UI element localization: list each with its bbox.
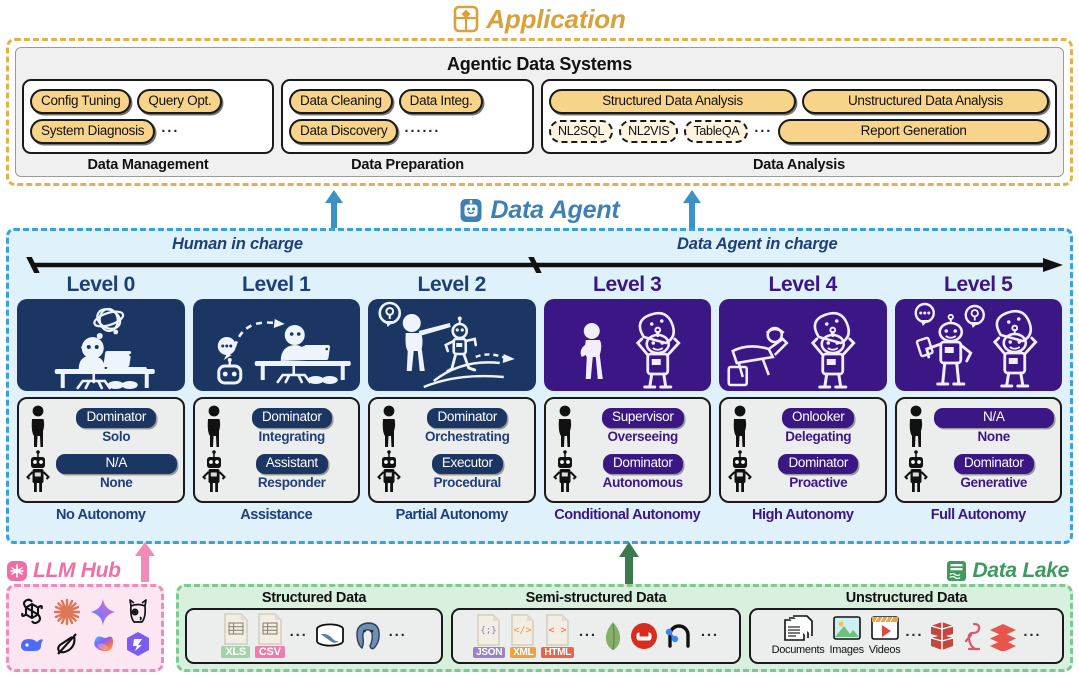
capability-chip[interactable]: System Diagnosis <box>30 119 155 144</box>
data-agent-title-text: Data Agent <box>490 196 619 225</box>
data-lake-icon <box>946 560 967 582</box>
openai-logo <box>17 597 47 627</box>
levels-row: Level 0 <box>17 274 1062 523</box>
autonomy-label: Assistance <box>193 507 361 523</box>
file-caption: XLS <box>221 646 250 658</box>
lake-group-structured: Structured Data XLS CSV ··· <box>185 589 443 664</box>
qwen-logo <box>123 629 153 659</box>
human-role-sub: Delegating <box>785 429 851 445</box>
file-caption: XML <box>510 647 536 658</box>
level-card-5[interactable]: Level 5 <box>895 274 1063 523</box>
agent-role-pill: Assistant <box>256 454 328 474</box>
capability-chip[interactable]: Unstructured Data Analysis <box>802 89 1049 114</box>
level-roles-1: Dominator Integrating Assistant Responde… <box>193 397 361 503</box>
arrow-llm-hub-to-agent <box>134 542 152 582</box>
level-name: Level 1 <box>193 274 361 296</box>
human-role-sub: Orchestrating <box>425 429 510 445</box>
level-card-2[interactable]: Level 2 <box>368 274 536 523</box>
application-grid-icon <box>453 5 479 33</box>
charge-labels: Human in charge Data Agent in charge <box>17 235 1062 257</box>
videos-icon: Videos <box>869 615 901 656</box>
capability-chip[interactable]: Structured Data Analysis <box>549 89 796 114</box>
data-agent-title: Data Agent <box>0 194 1079 226</box>
svg-text:< >: < > <box>548 625 566 636</box>
data-agent-in-charge-label: Data Agent in charge <box>677 235 837 254</box>
autonomy-axis <box>17 257 1062 273</box>
agent-role-pill: Executor <box>432 454 503 474</box>
ellipsis: ··· <box>579 628 597 643</box>
human-figure-icon <box>552 405 578 449</box>
robot-figure-icon <box>727 450 753 494</box>
human-role-pill: Dominator <box>427 408 507 428</box>
application-title-text: Application <box>486 4 625 35</box>
capability-chip[interactable]: Data Discovery <box>289 119 398 144</box>
llm-logos-row-2 <box>14 629 156 659</box>
ellipsis: ··· <box>161 124 179 139</box>
capability-chip[interactable]: Query Opt. <box>137 89 222 114</box>
level-roles-0: Dominator Solo N/A None <box>17 397 185 503</box>
capability-chip[interactable]: Data Integ. <box>399 89 484 114</box>
human-role-pill: Supervisor <box>602 408 684 428</box>
level-roles-5: N/A None Dominator Generative <box>895 397 1063 503</box>
aws-s3-logo <box>928 621 956 651</box>
application-panel: Agentic Data Systems Config Tuning Query… <box>6 38 1073 186</box>
level-illustration-0 <box>17 299 185 391</box>
level-name: Level 0 <box>17 274 185 296</box>
documents-icon: Documents <box>772 615 825 656</box>
app-column-data-management: Config Tuning Query Opt. System Diagnosi… <box>22 79 274 173</box>
ellipsis: ··· <box>905 628 923 643</box>
ellipsis: ······ <box>404 124 440 139</box>
llama-logo <box>123 597 153 627</box>
capability-chip[interactable]: Config Tuning <box>30 89 131 114</box>
human-role-sub: None <box>977 429 1010 445</box>
capability-chip-tableqa[interactable]: TableQA <box>684 120 748 143</box>
capability-chip-nl2sql[interactable]: NL2SQL <box>549 120 613 143</box>
deepseek-logo <box>17 629 47 659</box>
level-illustration-2 <box>368 299 536 391</box>
robot-figure-icon <box>25 450 51 494</box>
human-role-pill: Onlooker <box>782 408 854 428</box>
data-agent-panel: Human in charge Data Agent in charge Lev… <box>6 228 1073 544</box>
file-caption: Videos <box>869 644 901 656</box>
human-role-pill: N/A <box>934 408 1055 428</box>
level-illustration-4 <box>719 299 887 391</box>
file-caption: Documents <box>772 644 825 656</box>
human-role-pill: Dominator <box>252 408 332 428</box>
level-card-4[interactable]: Level 4 <box>719 274 887 523</box>
agent-role-pill: Dominator <box>778 454 858 474</box>
redis-logo <box>629 621 659 651</box>
human-role-sub: Integrating <box>259 429 325 445</box>
robot-figure-icon <box>552 450 578 494</box>
mongodb-logo <box>602 620 624 652</box>
autonomy-label: No Autonomy <box>17 507 185 523</box>
human-figure-icon <box>727 405 753 449</box>
lake-group-semi-structured: Semi-structured Data {;} JSON </> XML <box>451 589 741 664</box>
html-file-icon: < > HTML <box>541 614 574 658</box>
xls-file-icon: XLS <box>221 613 250 658</box>
application-title: Application <box>0 2 1079 36</box>
claude-logo <box>52 597 82 627</box>
ellipsis: ··· <box>754 124 772 139</box>
human-role-pill: Dominator <box>76 408 156 428</box>
app-column-label: Data Analysis <box>541 154 1057 173</box>
level-card-1[interactable]: Level 1 <box>193 274 361 523</box>
ellipsis: ··· <box>389 628 407 643</box>
level-illustration-5 <box>895 299 1063 391</box>
data-lake-title: Data Lake <box>946 558 1069 584</box>
agent-role-sub: Procedural <box>433 475 501 491</box>
agent-role-sub: Autonomous <box>603 475 683 491</box>
capability-chip-report-generation[interactable]: Report Generation <box>778 119 1049 144</box>
lake-group-heading: Unstructured Data <box>749 589 1064 608</box>
human-figure-icon <box>376 405 402 449</box>
file-caption: HTML <box>541 647 574 658</box>
mysql-logo <box>313 620 347 652</box>
level-roles-4: Onlooker Delegating Dominator Proactive <box>719 397 887 503</box>
llm-hub-title: LLM Hub <box>6 558 121 584</box>
capability-chip-nl2vis[interactable]: NL2VIS <box>619 120 678 143</box>
data-lake-title-text: Data Lake <box>972 559 1069 583</box>
brain-chip-icon <box>6 560 28 582</box>
level-name: Level 4 <box>719 274 887 296</box>
llm-hub-panel <box>6 584 164 672</box>
human-figure-icon <box>903 405 929 449</box>
copilot-logo <box>88 629 118 659</box>
svg-text:</>: </> <box>514 625 532 636</box>
grok-logo <box>52 629 82 659</box>
level-card-3[interactable]: Level 3 <box>544 274 712 523</box>
robot-badge-icon <box>459 197 483 224</box>
app-column-label: Data Management <box>22 154 274 173</box>
autonomy-label: Full Autonomy <box>895 507 1063 523</box>
human-figure-icon <box>201 405 227 449</box>
ellipsis: ··· <box>701 628 719 643</box>
robot-figure-icon <box>903 450 929 494</box>
agent-role-pill: N/A <box>56 454 177 474</box>
ellipsis: ··· <box>290 628 308 643</box>
autonomy-label: High Autonomy <box>719 507 887 523</box>
autonomy-label: Conditional Autonomy <box>544 507 712 523</box>
csv-file-icon: CSV <box>255 613 285 658</box>
json-file-icon: {;} JSON <box>473 614 505 658</box>
human-role-sub: Solo <box>102 429 130 445</box>
images-icon: Images <box>830 615 864 656</box>
level-roles-2: Dominator Orchestrating Executor Procedu… <box>368 397 536 503</box>
human-figure-icon <box>25 405 51 449</box>
agent-role-pill: Dominator <box>954 454 1034 474</box>
llm-hub-title-text: LLM Hub <box>33 559 121 583</box>
gemini-logo <box>88 597 118 627</box>
agent-role-pill: Dominator <box>603 454 683 474</box>
level-name: Level 3 <box>544 274 712 296</box>
lake-group-heading: Structured Data <box>185 589 443 608</box>
app-column-data-preparation: Data Cleaning Data Integ. Data Discovery… <box>281 79 534 173</box>
agent-role-sub: None <box>100 475 133 491</box>
robot-figure-icon <box>201 450 227 494</box>
capability-chip[interactable]: Data Cleaning <box>289 89 393 114</box>
llm-logos-row-1 <box>14 597 156 627</box>
xml-file-icon: </> XML <box>510 614 536 658</box>
level-card-0[interactable]: Level 0 <box>17 274 185 523</box>
data-lake-panel: Structured Data XLS CSV ··· <box>176 584 1073 672</box>
agentic-data-systems-title: Agentic Data Systems <box>22 52 1057 79</box>
level-name: Level 5 <box>895 274 1063 296</box>
postgresql-logo <box>352 620 384 652</box>
agent-role-sub: Generative <box>960 475 1027 491</box>
level-illustration-1 <box>193 299 361 391</box>
autonomy-label: Partial Autonomy <box>368 507 536 523</box>
agent-role-sub: Proactive <box>789 475 847 491</box>
level-name: Level 2 <box>368 274 536 296</box>
app-column-label: Data Preparation <box>281 154 534 173</box>
human-role-sub: Overseeing <box>607 429 678 445</box>
human-in-charge-label: Human in charge <box>172 235 303 254</box>
neo4j-logo <box>664 622 696 650</box>
level-illustration-3 <box>544 299 712 391</box>
level-roles-3: Supervisor Overseeing Dominator Autonomo… <box>544 397 712 503</box>
lake-group-unstructured: Unstructured Data Documents Images <box>749 589 1064 664</box>
flamingo-logo <box>961 621 983 651</box>
app-column-data-analysis: Structured Data Analysis Unstructured Da… <box>541 79 1057 173</box>
robot-figure-icon <box>376 450 402 494</box>
agent-role-sub: Responder <box>258 475 326 491</box>
arrow-data-lake-to-agent <box>618 542 636 584</box>
file-caption: JSON <box>473 647 505 658</box>
file-caption: CSV <box>255 646 285 658</box>
file-caption: Images <box>830 644 864 656</box>
databricks-logo <box>988 621 1018 651</box>
lake-group-heading: Semi-structured Data <box>451 589 741 608</box>
svg-text:{;}: {;} <box>480 626 496 636</box>
ellipsis: ··· <box>1023 628 1041 643</box>
